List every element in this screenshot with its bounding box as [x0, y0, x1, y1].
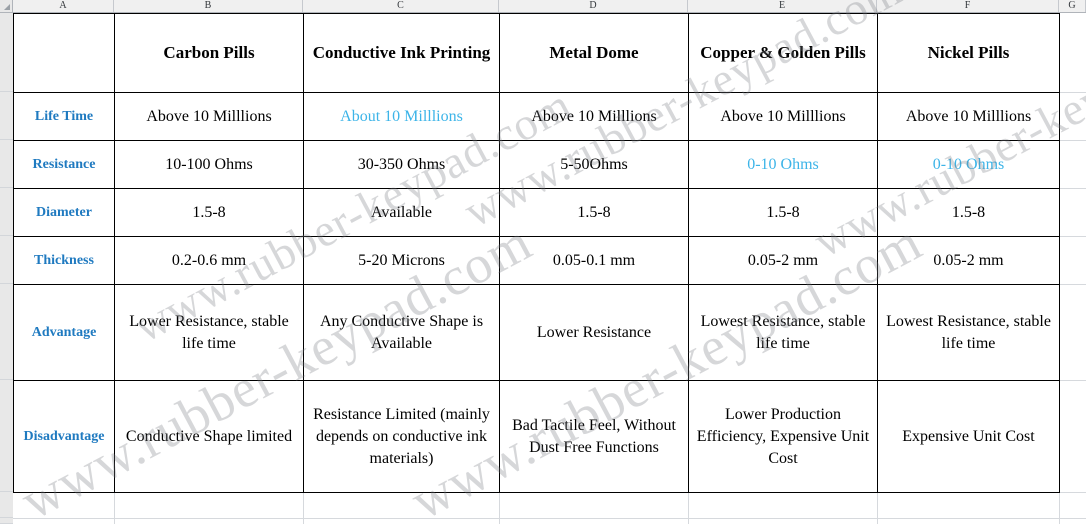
cell-diameter-metal-dome[interactable]: 1.5-8: [500, 189, 689, 237]
cell-diameter-conductive-ink[interactable]: Available: [304, 189, 500, 237]
row-label-disadvantage[interactable]: Disadvantage: [14, 381, 115, 493]
cell-disadvantage-carbon-pills[interactable]: Conductive Shape limited: [115, 381, 304, 493]
column-header-g[interactable]: G: [1059, 0, 1086, 12]
row-label-life-time[interactable]: Life Time: [14, 93, 115, 141]
comparison-table: Carbon Pills Conductive Ink Printing Met…: [13, 13, 1060, 493]
cell-disadvantage-nickel-pills[interactable]: Expensive Unit Cost: [878, 381, 1060, 493]
product-header-carbon-pills[interactable]: Carbon Pills: [115, 14, 304, 93]
cell-life-time-conductive-ink[interactable]: About 10 Milllions: [304, 93, 500, 141]
grid-area: Carbon Pills Conductive Ink Printing Met…: [13, 13, 1086, 524]
cell-resistance-metal-dome[interactable]: 5-50Ohms: [500, 141, 689, 189]
cell-thickness-nickel-pills[interactable]: 0.05-2 mm: [878, 237, 1060, 285]
cell-life-time-metal-dome[interactable]: Above 10 Milllions: [500, 93, 689, 141]
cell-diameter-nickel-pills[interactable]: 1.5-8: [878, 189, 1060, 237]
row-header-8[interactable]: [0, 492, 13, 518]
column-header-d[interactable]: D: [499, 0, 688, 12]
cell-thickness-carbon-pills[interactable]: 0.2-0.6 mm: [115, 237, 304, 285]
column-header-row: ABCDEFG: [0, 0, 1086, 13]
cell-life-time-nickel-pills[interactable]: Above 10 Milllions: [878, 93, 1060, 141]
select-all-corner[interactable]: [0, 0, 13, 12]
cell-resistance-nickel-pills[interactable]: 0-10 Ohms: [878, 141, 1060, 189]
row-header-1[interactable]: [0, 13, 13, 92]
table-row: Thickness 0.2-0.6 mm 5-20 Microns 0.05-0…: [14, 237, 1060, 285]
product-header-conductive-ink-printing[interactable]: Conductive Ink Printing: [304, 14, 500, 93]
cell-advantage-carbon-pills[interactable]: Lower Resistance, stable life time: [115, 285, 304, 381]
table-row: Diameter 1.5-8 Available 1.5-8 1.5-8 1.5…: [14, 189, 1060, 237]
row-label-thickness[interactable]: Thickness: [14, 237, 115, 285]
row-label-resistance[interactable]: Resistance: [14, 141, 115, 189]
cell-diameter-copper-golden[interactable]: 1.5-8: [689, 189, 878, 237]
table-row: Advantage Lower Resistance, stable life …: [14, 285, 1060, 381]
cell-life-time-carbon-pills[interactable]: Above 10 Milllions: [115, 93, 304, 141]
row-header-2[interactable]: [0, 92, 13, 140]
table-row: Disadvantage Conductive Shape limited Re…: [14, 381, 1060, 493]
row-header-5[interactable]: [0, 236, 13, 284]
cell-thickness-copper-golden[interactable]: 0.05-2 mm: [689, 237, 878, 285]
row-header-6[interactable]: [0, 284, 13, 380]
table-row: Life Time Above 10 Milllions About 10 Mi…: [14, 93, 1060, 141]
column-header-e[interactable]: E: [688, 0, 877, 12]
cell-resistance-carbon-pills[interactable]: 10-100 Ohms: [115, 141, 304, 189]
cell-disadvantage-metal-dome[interactable]: Bad Tactile Feel, Without Dust Free Func…: [500, 381, 689, 493]
row-header-9[interactable]: [0, 518, 13, 524]
table-corner-cell[interactable]: [14, 14, 115, 93]
cell-thickness-metal-dome[interactable]: 0.05-0.1 mm: [500, 237, 689, 285]
cell-resistance-copper-golden[interactable]: 0-10 Ohms: [689, 141, 878, 189]
column-header-b[interactable]: B: [114, 0, 303, 12]
row-number-gutter: [0, 13, 13, 524]
row-header-7[interactable]: [0, 380, 13, 492]
product-header-nickel-pills[interactable]: Nickel Pills: [878, 14, 1060, 93]
cell-advantage-copper-golden[interactable]: Lowest Resistance, stable life time: [689, 285, 878, 381]
row-label-advantage[interactable]: Advantage: [14, 285, 115, 381]
spreadsheet-canvas: ABCDEFG: [0, 0, 1086, 524]
cell-disadvantage-conductive-ink[interactable]: Resistance Limited (mainly depends on co…: [304, 381, 500, 493]
cell-life-time-copper-golden[interactable]: Above 10 Milllions: [689, 93, 878, 141]
column-header-a[interactable]: A: [13, 0, 114, 12]
cell-advantage-nickel-pills[interactable]: Lowest Resistance, stable life time: [878, 285, 1060, 381]
product-header-metal-dome[interactable]: Metal Dome: [500, 14, 689, 93]
column-header-c[interactable]: C: [303, 0, 499, 12]
table-body: Life Time Above 10 Milllions About 10 Mi…: [14, 93, 1060, 493]
cell-disadvantage-copper-golden[interactable]: Lower Production Efficiency, Expensive U…: [689, 381, 878, 493]
cell-advantage-conductive-ink[interactable]: Any Conductive Shape is Available: [304, 285, 500, 381]
row-label-diameter[interactable]: Diameter: [14, 189, 115, 237]
cell-diameter-carbon-pills[interactable]: 1.5-8: [115, 189, 304, 237]
cell-advantage-metal-dome[interactable]: Lower Resistance: [500, 285, 689, 381]
column-header-f[interactable]: F: [877, 0, 1059, 12]
cell-thickness-conductive-ink[interactable]: 5-20 Microns: [304, 237, 500, 285]
row-header-3[interactable]: [0, 140, 13, 188]
table-row: Resistance 10-100 Ohms 30-350 Ohms 5-50O…: [14, 141, 1060, 189]
product-header-copper-golden-pills[interactable]: Copper & Golden Pills: [689, 14, 878, 93]
table-header-row: Carbon Pills Conductive Ink Printing Met…: [14, 14, 1060, 93]
row-header-4[interactable]: [0, 188, 13, 236]
cell-resistance-conductive-ink[interactable]: 30-350 Ohms: [304, 141, 500, 189]
